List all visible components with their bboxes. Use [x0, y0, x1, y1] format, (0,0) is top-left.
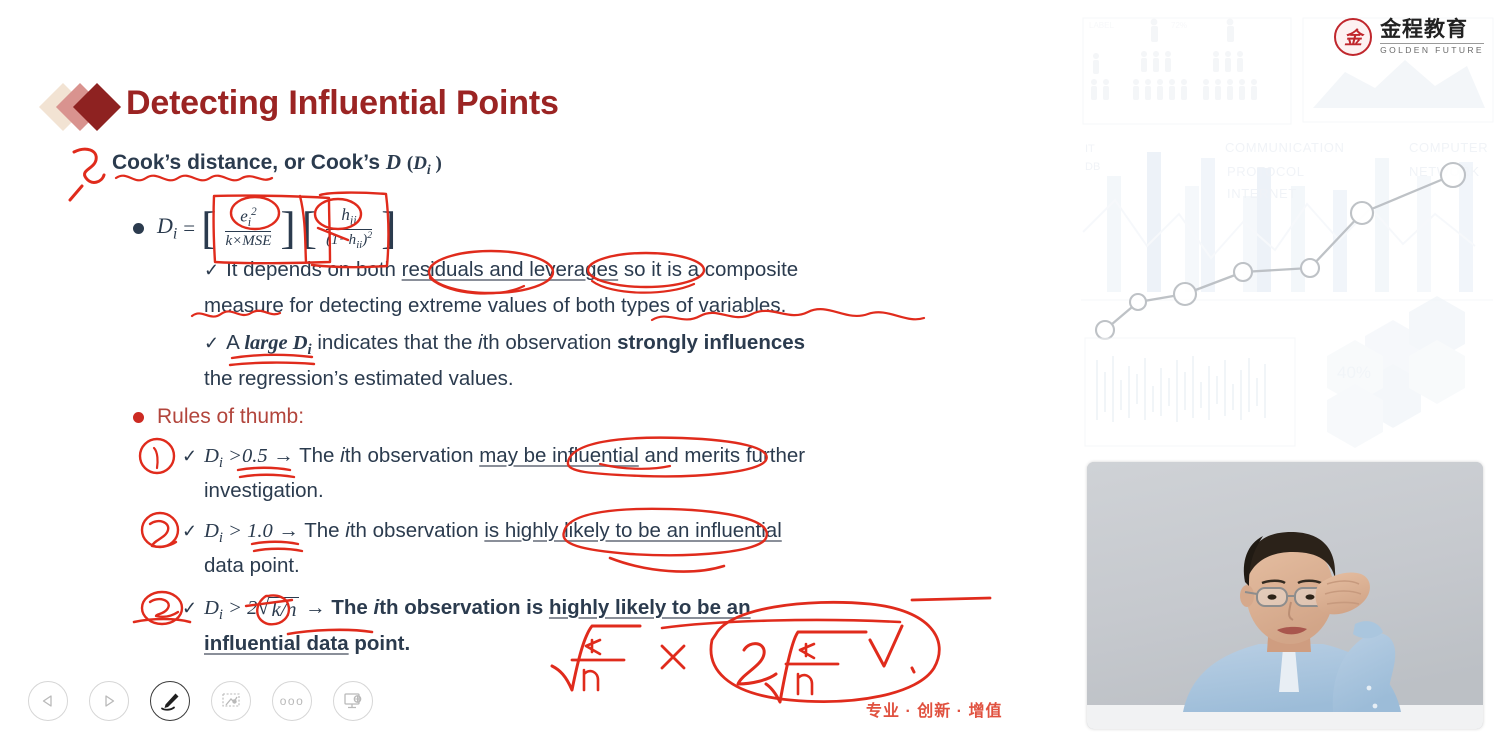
- bullet-2-text-c: th observation: [483, 331, 617, 354]
- formula-lhs-sub: i: [173, 225, 177, 242]
- slide-heading-symbol: D: [386, 150, 401, 174]
- formula-frac1-num: e: [240, 207, 248, 226]
- rule-1-text-b: th observation: [345, 444, 479, 467]
- formula-bracket-close: ]: [381, 207, 396, 248]
- checkmark-icon: ✓: [204, 260, 219, 280]
- presentation-view-button[interactable]: [333, 681, 373, 721]
- bg-label-small-b: DB: [1085, 161, 1100, 173]
- hexagon-percent-label: 40%: [1337, 363, 1371, 382]
- presentation-toolbar[interactable]: ooo: [28, 681, 373, 721]
- rule-item-2-line-1: ✓Di > 1.0 → The ith observation is highl…: [182, 519, 782, 547]
- rule-item-1-line-2: investigation.: [204, 479, 324, 503]
- brand-slogan-watermark: 专业 · 创新 · 增值: [866, 697, 1002, 721]
- bullet-item-1-line-2: measure for detecting extreme values of …: [204, 294, 786, 318]
- rule-1-text-c: and merits further: [639, 444, 805, 467]
- slide-canvas[interactable]: Detecting Influential Points Cook’s dist…: [0, 0, 1075, 750]
- rule-2-symbol: D: [204, 520, 219, 542]
- bg-label-small-a: IT: [1085, 143, 1095, 155]
- pictogram-percent: 72%: [1171, 21, 1187, 30]
- bullet-item-2-line-1: ✓A large Di indicates that the ith obser…: [204, 331, 805, 359]
- formula-fraction-1: ei2 k×MSE: [222, 206, 274, 250]
- slide-heading-paren-close: ): [435, 153, 441, 174]
- laser-pointer-icon: [220, 691, 242, 711]
- rule-3-text-b: th observation is: [379, 596, 549, 619]
- formula-lhs: D: [157, 213, 173, 238]
- right-side-panel: LABEL 72%: [1075, 0, 1500, 750]
- screen-share-icon: [342, 691, 364, 711]
- checkmark-icon: ✓: [182, 598, 197, 618]
- rule-3-underlined: highly likely to be an: [549, 596, 751, 619]
- bg-label-protocol: PROTOCOL: [1227, 164, 1305, 179]
- rule-item-3-line-2: influential data point.: [204, 632, 410, 656]
- rule-3-line2-underlined: influential data: [204, 632, 349, 655]
- slide-heading-sub-index: i: [427, 162, 431, 177]
- rule-2-text-b: th observation: [350, 519, 484, 542]
- formula-frac2-den-sup: 2: [367, 230, 372, 241]
- rule-3-symbol: D: [204, 597, 219, 619]
- rule-item-1-line-1: ✓Di >0.5 → The ith observation may be in…: [182, 444, 805, 472]
- bullet-1-text-a: It depends on both: [226, 258, 402, 281]
- bullet-item-2-line-2: the regression’s estimated values.: [204, 367, 514, 391]
- rule-3-line2-rest: point.: [349, 632, 410, 655]
- instructor-video-feed[interactable]: [1087, 462, 1483, 729]
- diamond-decoration-icon: [46, 84, 126, 132]
- triangle-right-icon: [102, 694, 116, 708]
- formula-bracket-mid-close: ]: [280, 207, 295, 248]
- video-frame-content: [1087, 462, 1483, 729]
- slide-heading-text: Cook’s distance, or Cook’s: [112, 151, 386, 174]
- rules-of-thumb-label: Rules of thumb:: [157, 405, 304, 429]
- bg-label-computer: COMPUTER: [1409, 140, 1488, 155]
- bullet-2-text-a: A: [226, 331, 244, 354]
- bg-label-internet: INTERNET: [1227, 186, 1297, 201]
- slide-heading: Cook’s distance, or Cook’s D (Di ): [112, 150, 442, 178]
- rule-1-underlined: may be influential: [479, 444, 639, 467]
- pen-icon: [159, 691, 181, 711]
- bullet-1-text-b: so it is a composite: [618, 258, 798, 281]
- rule-item-3-line-1: ✓Di > 2√k/n → The ith observation is hig…: [182, 596, 751, 624]
- rule-2-arrow-icon: →: [278, 519, 299, 542]
- formula-frac2-num-sub: ii: [350, 213, 357, 227]
- bullet-2-text-b: indicates that the: [312, 331, 478, 354]
- bullet-item-1-line-1: ✓It depends on both residuals and levera…: [204, 258, 798, 282]
- formula-frac1-num-sup: 2: [251, 206, 257, 218]
- logo-english-name: GOLDEN FUTURE: [1380, 43, 1484, 55]
- bg-label-communication: COMMUNICATION: [1225, 140, 1345, 155]
- formula-frac1-den: k×MSE: [225, 231, 271, 250]
- bullet-dot-icon: [133, 223, 144, 234]
- rules-of-thumb-heading: Rules of thumb:: [133, 405, 304, 429]
- formula-fraction-2: hii (1−hii)2: [323, 205, 375, 251]
- rule-item-2-line-2: data point.: [204, 554, 300, 578]
- laser-pointer-button[interactable]: [211, 681, 251, 721]
- formula-equals: =: [183, 216, 195, 241]
- formula-frac2-den-a: (1−h: [326, 232, 356, 248]
- rule-3-radical-body: k/n: [269, 597, 299, 622]
- pictogram-label-a: LABEL: [1089, 21, 1114, 30]
- logo-seal-icon: 金: [1334, 18, 1372, 56]
- screen-recording-frame: Detecting Influential Points Cook’s dist…: [0, 0, 1500, 750]
- next-slide-button[interactable]: [89, 681, 129, 721]
- rule-3-radical: √k/n: [257, 596, 299, 622]
- bullet-2-bold-phrase: strongly influences: [617, 331, 805, 354]
- hexagon-cluster: 40%: [1327, 296, 1465, 448]
- checkmark-icon: ✓: [182, 446, 197, 466]
- bullet-1-underlined: residuals and leverages: [402, 258, 619, 281]
- bullet-dot-red-icon: [133, 412, 144, 423]
- background-infographic-art: LABEL 72%: [1075, 0, 1500, 460]
- formula-bracket-mid-open: [: [302, 207, 317, 248]
- formula-bracket-open: [: [201, 207, 216, 248]
- rule-2-underlined: is highly likely to be an influential: [484, 519, 781, 542]
- triangle-left-icon: [41, 694, 55, 708]
- cooks-distance-formula: Di = [ ei2 k×MSE ] [ hii (1−hii)2 ]: [133, 205, 396, 251]
- formula-frac2-num: h: [341, 205, 350, 224]
- people-pictogram-card: LABEL 72%: [1083, 18, 1291, 124]
- checkmark-icon: ✓: [182, 521, 197, 541]
- rule-1-symbol: D: [204, 445, 219, 467]
- slide-heading-sub-symbol: D: [413, 153, 427, 174]
- rule-3-threshold: > 2: [223, 597, 257, 619]
- ellipsis-icon: ooo: [280, 694, 305, 708]
- rule-3-arrow-icon: →: [305, 596, 326, 619]
- rule-1-threshold: >0.5: [223, 445, 268, 467]
- pen-tool-button[interactable]: [150, 681, 190, 721]
- page-title: Detecting Influential Points: [126, 84, 559, 123]
- checkmark-icon: ✓: [204, 333, 219, 353]
- bullet-2-bold-large-d: large D: [244, 332, 307, 354]
- rule-2-text-a: The: [299, 519, 345, 542]
- logo-chinese-name: 金程教育: [1380, 19, 1484, 41]
- rule-3-text-a: The: [326, 596, 374, 619]
- radical-sign-icon: √: [257, 596, 269, 622]
- more-options-button[interactable]: ooo: [272, 681, 312, 721]
- brand-logo: 金 金程教育 GOLDEN FUTURE: [1334, 18, 1484, 56]
- rule-2-threshold: > 1.0: [223, 520, 273, 542]
- previous-slide-button[interactable]: [28, 681, 68, 721]
- rule-1-arrow-icon: →: [273, 444, 294, 467]
- rule-1-text-a: The: [294, 444, 340, 467]
- candlestick-chart-card: [1085, 338, 1295, 446]
